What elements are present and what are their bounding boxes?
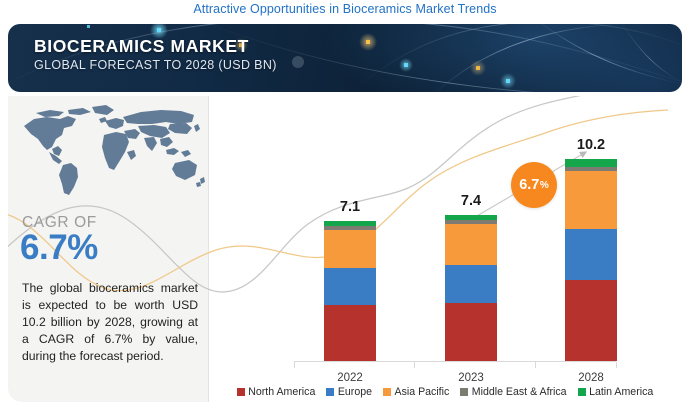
bar-total-label-2022: 7.1 xyxy=(320,199,380,215)
segment-asia-pacific xyxy=(324,230,376,268)
legend-item-north-america[interactable]: North America xyxy=(237,386,316,398)
axis-tick xyxy=(616,362,617,368)
bar-2022[interactable] xyxy=(324,221,376,361)
legend-label-north-america: North America xyxy=(248,386,315,398)
legend-label-middle-east-africa: Middle East & Africa xyxy=(472,386,567,398)
bar-total-label-2028: 10.2 xyxy=(561,137,621,153)
legend-swatch-middle-east-africa xyxy=(460,388,468,396)
cagr-callout-value: 6.7 xyxy=(519,177,539,193)
legend-swatch-latin-america xyxy=(578,388,586,396)
bar-total-label-2023: 7.4 xyxy=(441,193,501,209)
header-banner: BIOCERAMICS MARKET GLOBAL FORECAST TO 20… xyxy=(8,24,682,92)
world-map-icon xyxy=(16,102,206,206)
chart-legend: North America Europe Asia Pacific Middle… xyxy=(208,386,682,398)
legend-label-latin-america: Latin America xyxy=(589,386,653,398)
banner-subtitle: GLOBAL FORECAST TO 2028 (USD BN) xyxy=(34,58,277,72)
segment-europe xyxy=(324,268,376,305)
infographic-page: Attractive Opportunities in Bioceramics … xyxy=(0,0,690,410)
legend-item-europe[interactable]: Europe xyxy=(326,386,372,398)
segment-europe xyxy=(445,265,497,303)
x-axis-label-2023: 2023 xyxy=(441,372,501,384)
content-card: CAGR OF 6.7% The global bioceramics mark… xyxy=(8,96,682,402)
bar-2028[interactable] xyxy=(565,159,617,361)
legend-item-middle-east-africa[interactable]: Middle East & Africa xyxy=(460,386,566,398)
axis-tick xyxy=(414,362,415,368)
x-axis-label-2022: 2022 xyxy=(320,372,380,384)
segment-asia-pacific xyxy=(445,224,497,265)
cagr-callout-unit: % xyxy=(540,180,549,191)
segment-europe xyxy=(565,229,617,280)
legend-swatch-europe xyxy=(326,388,334,396)
segment-latin-america xyxy=(565,159,617,167)
x-axis-line xyxy=(294,361,616,362)
segment-north-america xyxy=(324,305,376,361)
legend-swatch-north-america xyxy=(237,388,245,396)
page-title: Attractive Opportunities in Bioceramics … xyxy=(0,2,690,16)
cagr-value: 6.7% xyxy=(20,228,98,268)
cagr-callout-bubble[interactable]: 6.7% xyxy=(511,162,557,208)
segment-asia-pacific xyxy=(565,171,617,229)
legend-swatch-asia-pacific xyxy=(383,388,391,396)
legend-item-latin-america[interactable]: Latin America xyxy=(578,386,654,398)
x-axis-label-2028: 2028 xyxy=(561,372,621,384)
axis-tick xyxy=(294,362,295,368)
banner-title: BIOCERAMICS MARKET xyxy=(34,36,249,56)
axis-tick xyxy=(535,362,536,368)
stacked-bar-chart: 7.1 2022 7.4 2023 10.2 2028 xyxy=(208,96,682,402)
legend-item-asia-pacific[interactable]: Asia Pacific xyxy=(383,386,449,398)
segment-north-america xyxy=(445,303,497,361)
legend-label-asia-pacific: Asia Pacific xyxy=(395,386,450,398)
legend-label-europe: Europe xyxy=(338,386,372,398)
segment-north-america xyxy=(565,280,617,361)
bar-2023[interactable] xyxy=(445,215,497,361)
market-description: The global bioceramics market is expecte… xyxy=(22,280,198,365)
